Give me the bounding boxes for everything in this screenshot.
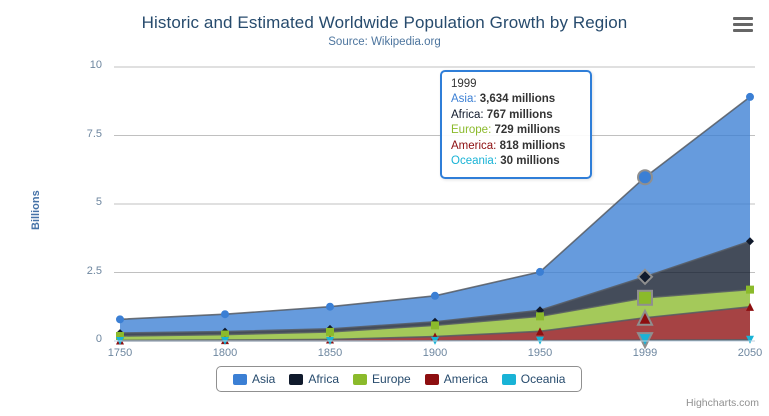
plot-area: Billions 02.557.510 17501800185019001950… [0,0,769,416]
legend-item-europe[interactable]: Europe [353,372,411,386]
x-tick-label: 1900 [405,347,465,359]
legend-item-oceania[interactable]: Oceania [502,372,566,386]
tooltip: 1999 Asia: 3,634 millionsAfrica: 767 mil… [440,70,592,179]
tooltip-series-value: 729 millions [494,124,560,136]
tooltip-row: Oceania: 30 millions [451,154,581,170]
tooltip-row: Africa: 767 millions [451,108,581,124]
legend-swatch [233,374,247,385]
x-tick-label: 1850 [300,347,360,359]
tooltip-series-name: Asia: [451,93,480,105]
tooltip-series-value: 30 millions [500,155,559,167]
y-axis-title: Billions [30,190,42,230]
y-tick-label: 2.5 [62,265,102,277]
legend-label: Europe [372,372,411,386]
x-tick-label: 1800 [195,347,255,359]
legend-swatch [289,374,303,385]
tooltip-row: Asia: 3,634 millions [451,92,581,108]
y-tick-label: 10 [62,59,102,71]
legend-item-africa[interactable]: Africa [289,372,339,386]
x-tick-label: 1950 [510,347,570,359]
x-tick-label: 1999 [615,347,675,359]
legend-label: Oceania [521,372,566,386]
highcharts-container: Historic and Estimated Worldwide Populat… [0,0,769,416]
y-tick-label: 5 [62,196,102,208]
tooltip-series-value: 3,634 millions [480,93,555,105]
x-tick-label: 1750 [90,347,150,359]
credits-link[interactable]: Highcharts.com [686,397,759,409]
tooltip-row: Europe: 729 millions [451,123,581,139]
series-areas [120,97,750,341]
legend-label: America [444,372,488,386]
legend-item-asia[interactable]: Asia [233,372,275,386]
tooltip-series-name: Europe: [451,124,494,136]
tooltip-series-name: Oceania: [451,155,500,167]
tooltip-series-value: 767 millions [487,109,553,121]
tooltip-series-name: Africa: [451,109,487,121]
legend-swatch [353,374,367,385]
legend-item-america[interactable]: America [425,372,488,386]
legend-label: Africa [308,372,339,386]
legend-label: Asia [252,372,275,386]
x-tick-label: 2050 [720,347,769,359]
y-tick-label: 0 [62,333,102,345]
y-tick-label: 7.5 [62,128,102,140]
tooltip-series-name: America: [451,140,500,152]
legend-swatch [502,374,516,385]
legend-swatch [425,374,439,385]
tooltip-header: 1999 [451,78,581,90]
tooltip-series-value: 818 millions [500,140,566,152]
tooltip-rows: Asia: 3,634 millionsAfrica: 767 millions… [451,92,581,170]
tooltip-row: America: 818 millions [451,139,581,155]
legend[interactable]: AsiaAfricaEuropeAmericaOceania [216,366,582,392]
